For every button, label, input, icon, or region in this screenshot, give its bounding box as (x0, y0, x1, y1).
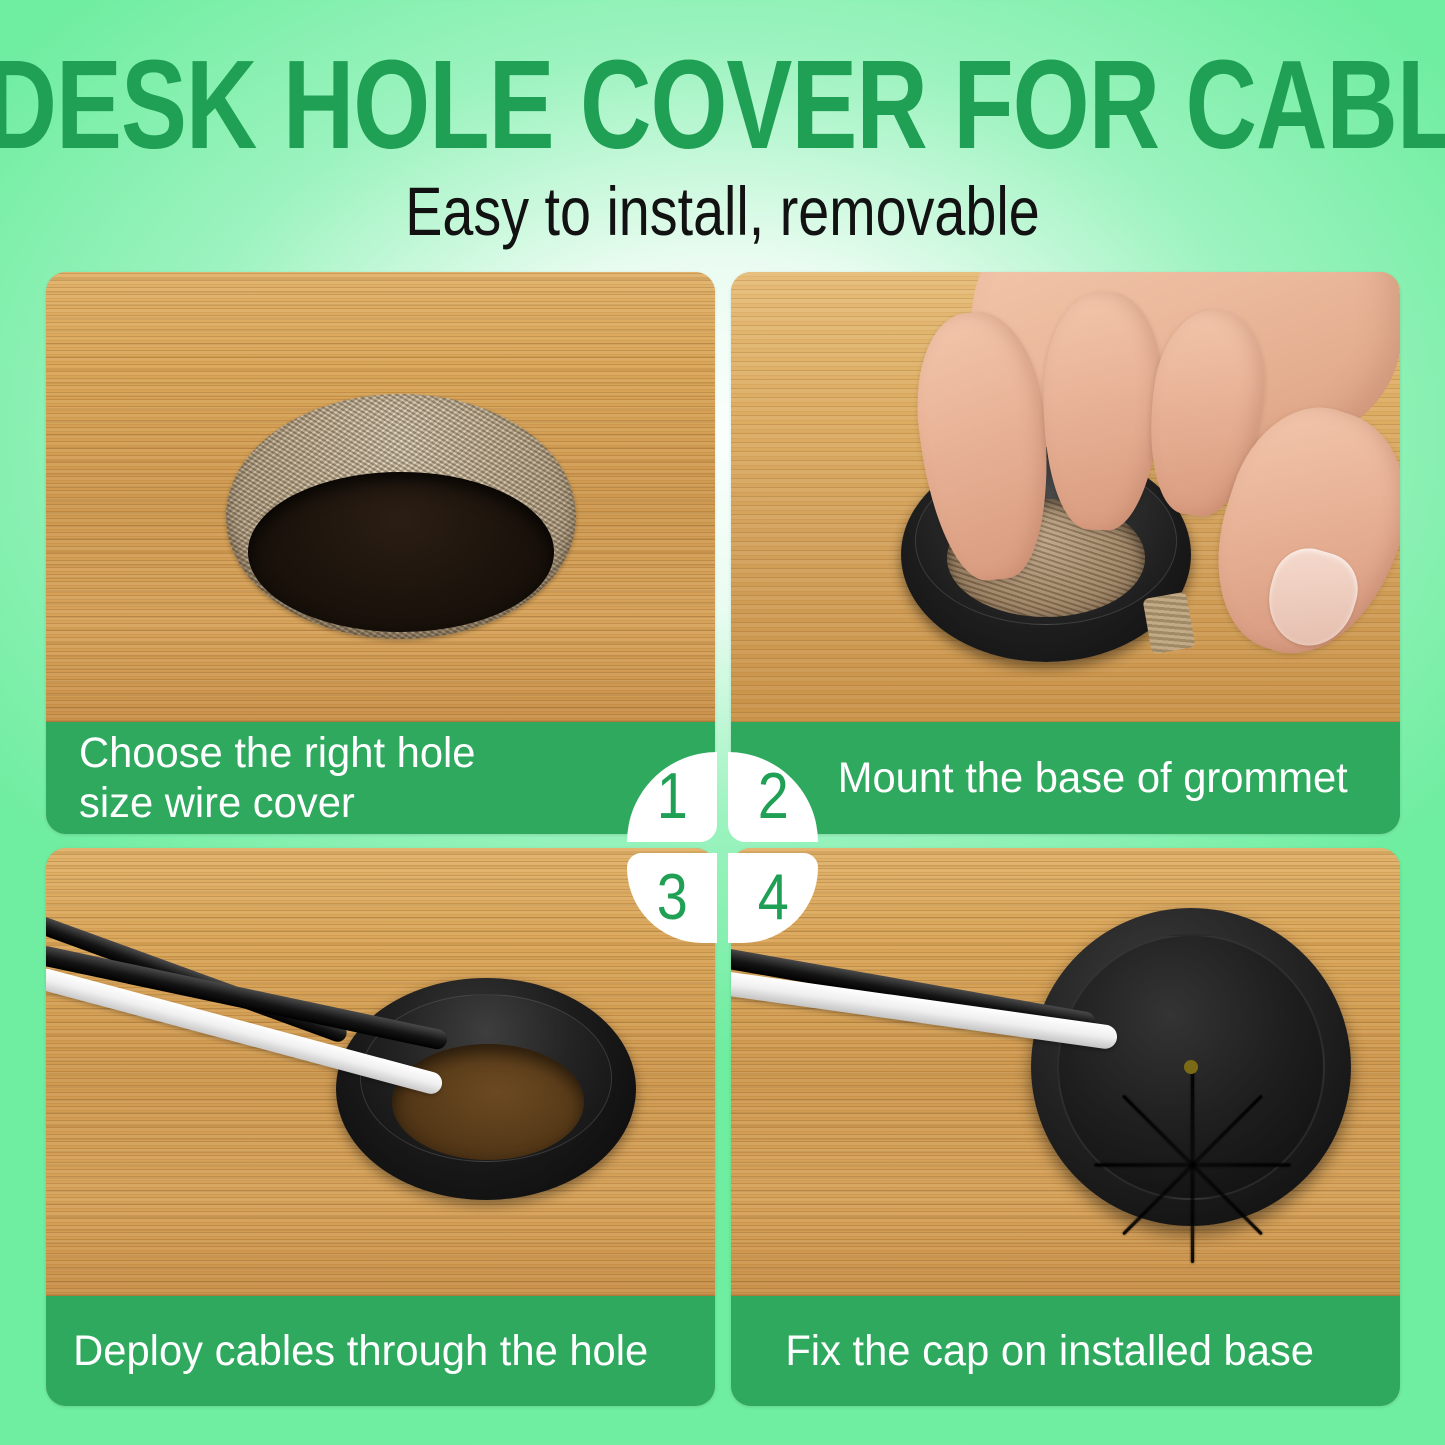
step-2-caption-bar: Mount the base of grommet (731, 722, 1400, 834)
cap-slit-7 (1095, 1164, 1193, 1167)
installed-grommet-base (336, 978, 636, 1200)
cap-center-hub (1184, 1060, 1198, 1074)
step-3-caption-bar: Deploy cables through the hole (46, 1296, 715, 1406)
hole-interior (248, 472, 554, 632)
cap-slit-8 (1122, 1095, 1193, 1166)
step-4-caption-bar: Fix the cap on installed base (731, 1296, 1400, 1406)
open-hole-interior (392, 1044, 584, 1160)
grommet-cap (1031, 908, 1351, 1226)
step-panel-3: Deploy cables through the hole (46, 848, 715, 1406)
cap-slit-5 (1191, 1165, 1194, 1263)
step-2-caption-text: Mount the base of grommet (731, 753, 1348, 803)
cap-disc (1057, 934, 1325, 1200)
cap-slit-2 (1191, 1095, 1262, 1166)
hand (851, 272, 1400, 692)
step-1-photo (46, 272, 715, 722)
step-2-photo (731, 272, 1400, 722)
step-4-caption-text: Fix the cap on installed base (731, 1326, 1314, 1376)
step-panel-4: Fix the cap on installed base (731, 848, 1400, 1406)
step-panel-1: Choose the right hole size wire cover (46, 272, 715, 834)
step-3-caption-text: Deploy cables through the hole (46, 1326, 648, 1376)
step-4-photo (731, 848, 1400, 1296)
cap-slit-1 (1191, 1067, 1194, 1165)
step-3-photo (46, 848, 715, 1296)
page-subtitle: Easy to install, removable (29, 176, 1416, 249)
desk-hole (226, 394, 576, 639)
step-1-caption-bar: Choose the right hole size wire cover (46, 722, 715, 834)
step-panel-2: Mount the base of grommet (731, 272, 1400, 834)
step-1-caption-text: Choose the right hole size wire cover (46, 728, 475, 828)
page-title: DESK HOLE COVER FOR CABLES (0, 40, 1445, 170)
header: DESK HOLE COVER FOR CABLES Easy to insta… (0, 0, 1445, 270)
cap-slit-3 (1193, 1164, 1291, 1167)
middle-finger (1039, 290, 1165, 532)
